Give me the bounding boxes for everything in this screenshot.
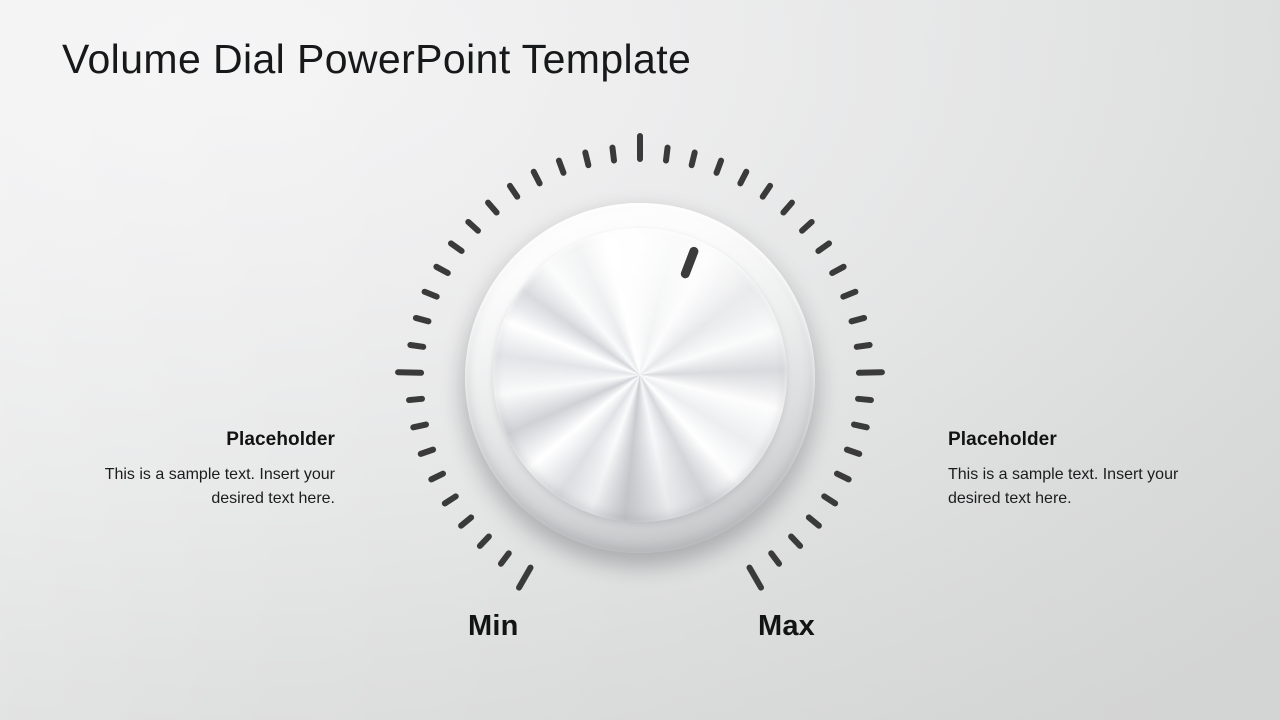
dial-knob-face[interactable] — [493, 228, 787, 522]
placeholder-block-left: Placeholder This is a sample text. Inser… — [85, 429, 335, 511]
placeholder-title-right: Placeholder — [948, 429, 1198, 451]
page-title: Volume Dial PowerPoint Template — [62, 36, 691, 83]
placeholder-body-left: This is a sample text. Insert your desir… — [85, 463, 335, 511]
dial-min-label: Min — [468, 610, 519, 643]
slide-canvas: Volume Dial PowerPoint Template Placehol… — [0, 0, 1280, 720]
placeholder-block-right: Placeholder This is a sample text. Inser… — [948, 429, 1198, 511]
dial-max-label: Max — [758, 610, 815, 643]
placeholder-body-right: This is a sample text. Insert your desir… — [948, 463, 1198, 511]
placeholder-title-left: Placeholder — [85, 429, 335, 451]
